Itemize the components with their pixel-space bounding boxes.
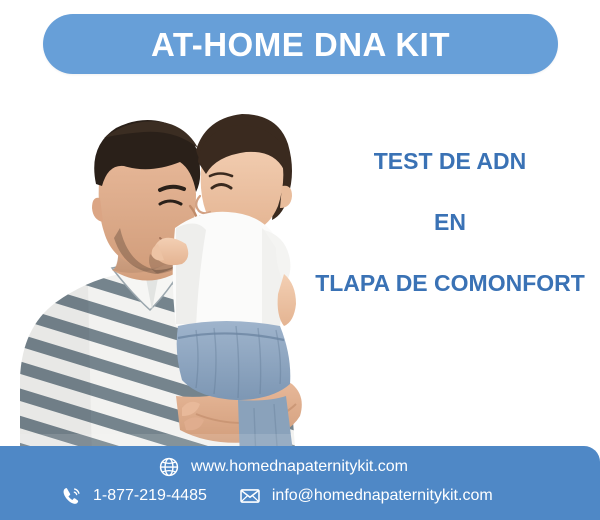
phone-icon [60, 485, 82, 507]
footer-email-item[interactable]: info@homednapaternitykit.com [239, 485, 493, 507]
footer-email-text: info@homednapaternitykit.com [272, 488, 493, 504]
footer-website-row: www.homednapaternitykit.com [158, 456, 408, 478]
envelope-icon [239, 485, 261, 507]
globe-icon [158, 456, 180, 478]
header-title: AT-HOME DNA KIT [151, 28, 450, 61]
footer-contact-row: 1-877-219-4485 info@homednapaternitykit.… [60, 485, 493, 507]
family-photo-illustration [0, 78, 330, 460]
family-photo [0, 78, 330, 460]
footer-website-item[interactable]: www.homednapaternitykit.com [158, 456, 408, 478]
headline-line-2: EN [300, 211, 600, 234]
footer-phone-text: 1-877-219-4485 [93, 488, 207, 504]
footer-contact-bar: www.homednapaternitykit.com 1-877-219-44… [0, 446, 600, 520]
footer-phone-item[interactable]: 1-877-219-4485 [60, 485, 207, 507]
headline-line-3: TLAPA DE COMONFORT [300, 272, 600, 295]
header-banner: AT-HOME DNA KIT [43, 14, 558, 74]
poster-canvas: AT-HOME DNA KIT [0, 0, 600, 520]
headline-block: TEST DE ADN EN TLAPA DE COMONFORT [300, 150, 600, 295]
headline-line-1: TEST DE ADN [300, 150, 600, 173]
footer-website-text: www.homednapaternitykit.com [191, 459, 408, 475]
